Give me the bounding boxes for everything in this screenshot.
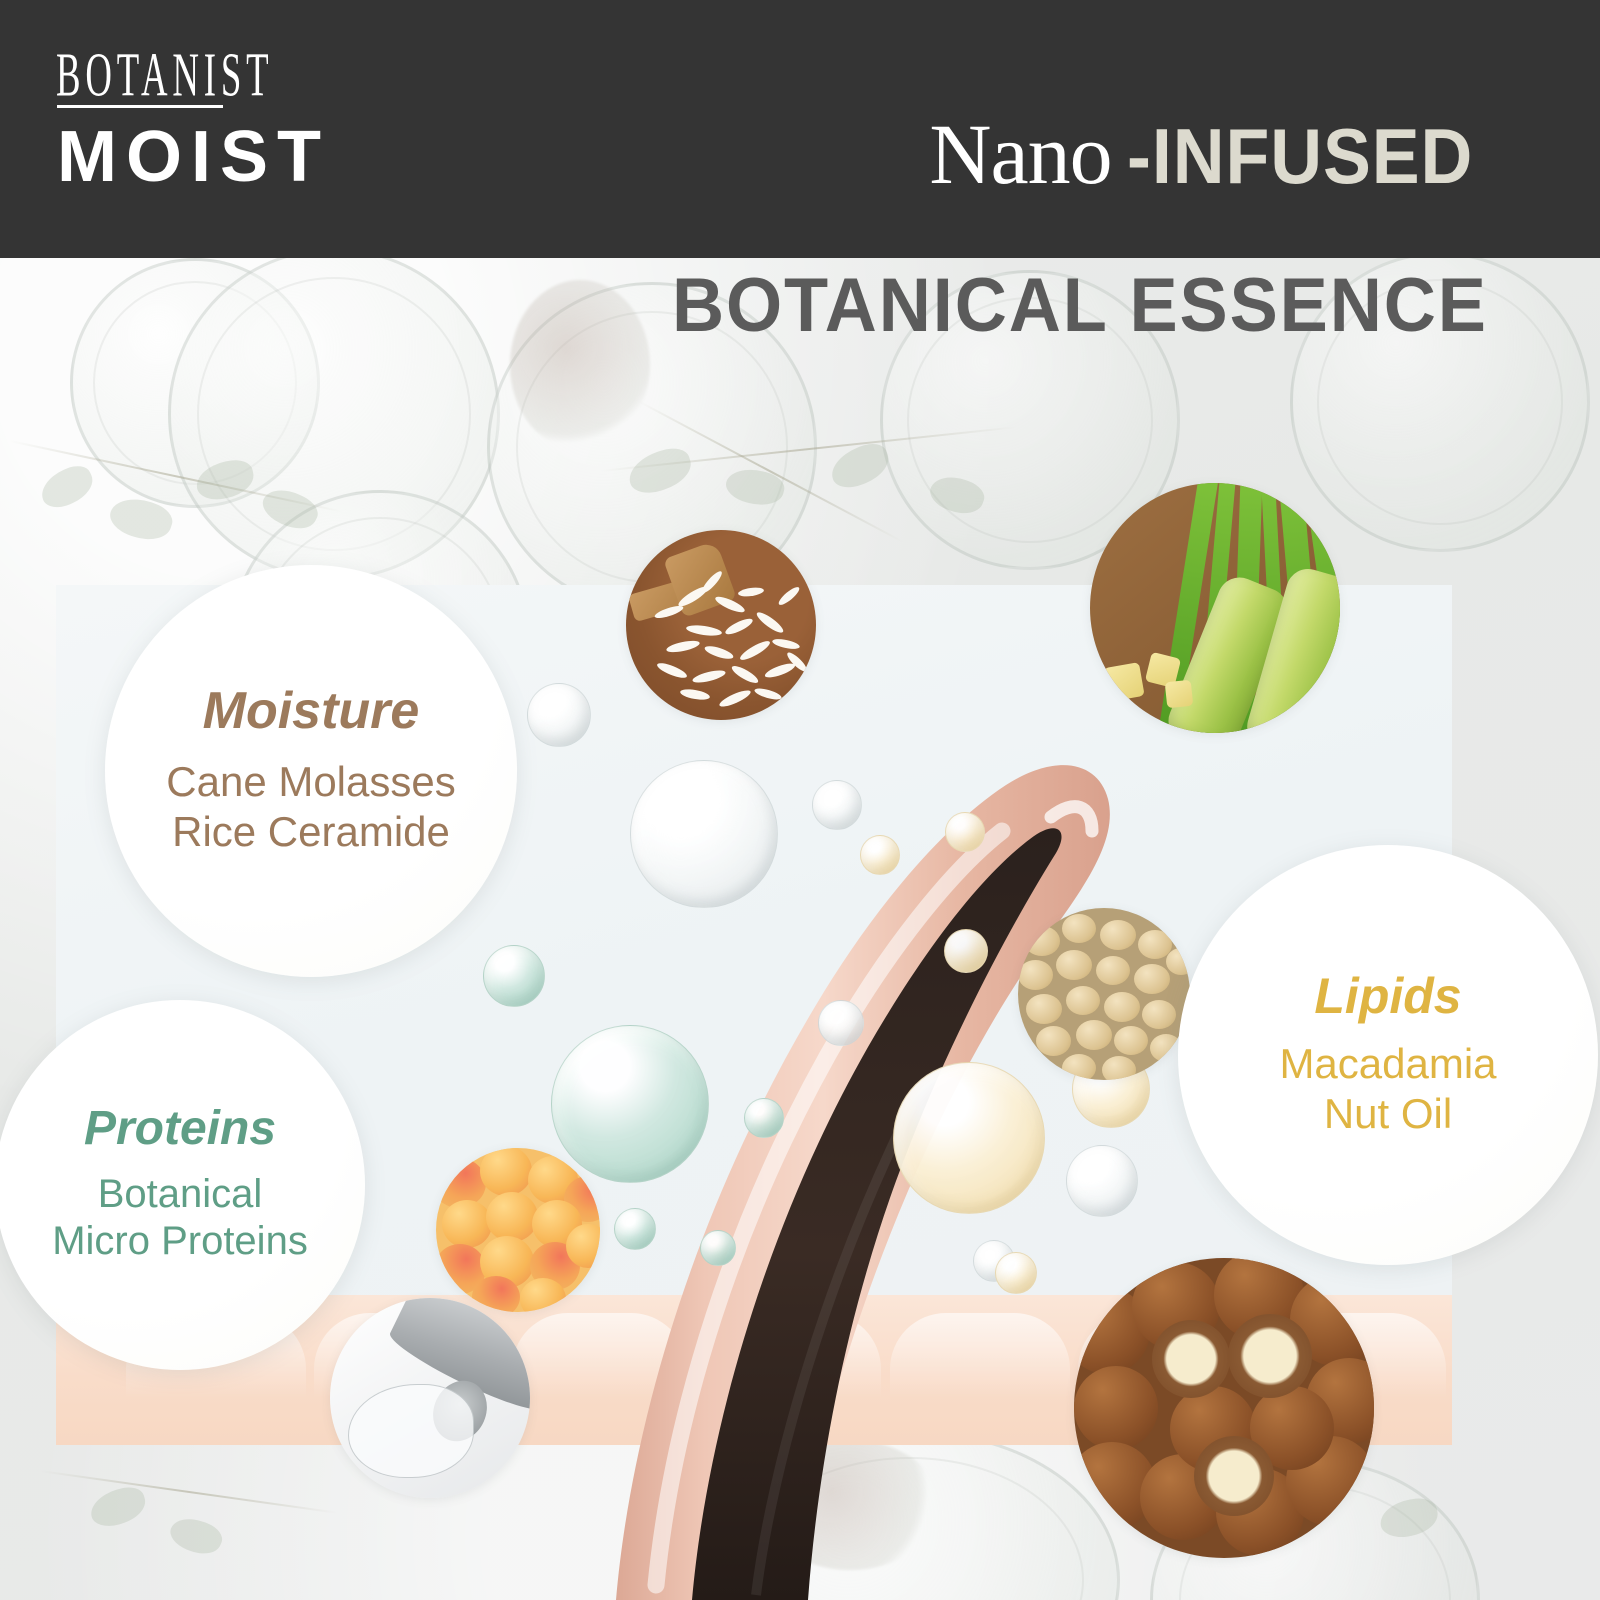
brand-logo: BOTANIST MOIST xyxy=(56,44,330,193)
brand-name-bottom: MOIST xyxy=(57,121,330,193)
infographic-poster: BOTANIST MOIST Nano -INFUSED BOTANICAL E… xyxy=(0,0,1600,1600)
header-bar: BOTANIST MOIST Nano -INFUSED xyxy=(0,0,1600,258)
benefit-circle-lipids: Lipids Macadamia Nut Oil xyxy=(1178,845,1598,1265)
macadamia-nuts-photo xyxy=(1074,1258,1374,1558)
bubble-teal xyxy=(744,1098,784,1138)
headline-bold-part: -INFUSED xyxy=(1127,111,1473,202)
bubble-teal xyxy=(614,1208,656,1250)
benefit-line-2-proteins: Micro Proteins xyxy=(52,1218,308,1265)
brand-name-top: BOTANIST xyxy=(56,44,275,106)
bubble-cream xyxy=(995,1252,1037,1294)
apricots-photo xyxy=(436,1148,600,1312)
bubble-white xyxy=(812,780,862,830)
bubble-white xyxy=(818,1000,864,1046)
subheadline: BOTANICAL ESSENCE xyxy=(672,262,1488,349)
headline-serif-part: Nano xyxy=(929,104,1111,204)
headline: Nano -INFUSED xyxy=(929,104,1488,204)
benefit-line-2-lipids: Nut Oil xyxy=(1324,1089,1452,1139)
benefit-title-lipids: Lipids xyxy=(1314,971,1461,1021)
rice-grains-photo xyxy=(626,530,816,720)
bubble-white xyxy=(1066,1145,1138,1217)
benefit-line-1-proteins: Botanical xyxy=(98,1171,263,1218)
bubble-white xyxy=(630,760,778,908)
bubble-white xyxy=(527,683,591,747)
benefit-line-1-moisture: Cane Molasses xyxy=(166,757,455,807)
benefit-title-proteins: Proteins xyxy=(84,1105,276,1153)
bubble-cream xyxy=(945,812,985,852)
bubble-teal xyxy=(483,945,545,1007)
hair-cuticle-micrograph-photo xyxy=(330,1298,530,1498)
benefit-line-2-moisture: Rice Ceramide xyxy=(172,807,450,857)
benefit-line-1-lipids: Macadamia xyxy=(1279,1039,1496,1089)
sugarcane-stalks-photo xyxy=(1090,483,1340,733)
benefit-circle-moisture: Moisture Cane Molasses Rice Ceramide xyxy=(105,565,517,977)
bubble-cream xyxy=(860,835,900,875)
soybeans-photo xyxy=(1018,908,1190,1080)
bubble-teal xyxy=(700,1230,736,1266)
bubble-cream xyxy=(893,1062,1045,1214)
benefit-title-moisture: Moisture xyxy=(203,685,420,737)
benefit-circle-proteins: Proteins Botanical Micro Proteins xyxy=(0,1000,365,1370)
bubble-cream xyxy=(944,929,988,973)
